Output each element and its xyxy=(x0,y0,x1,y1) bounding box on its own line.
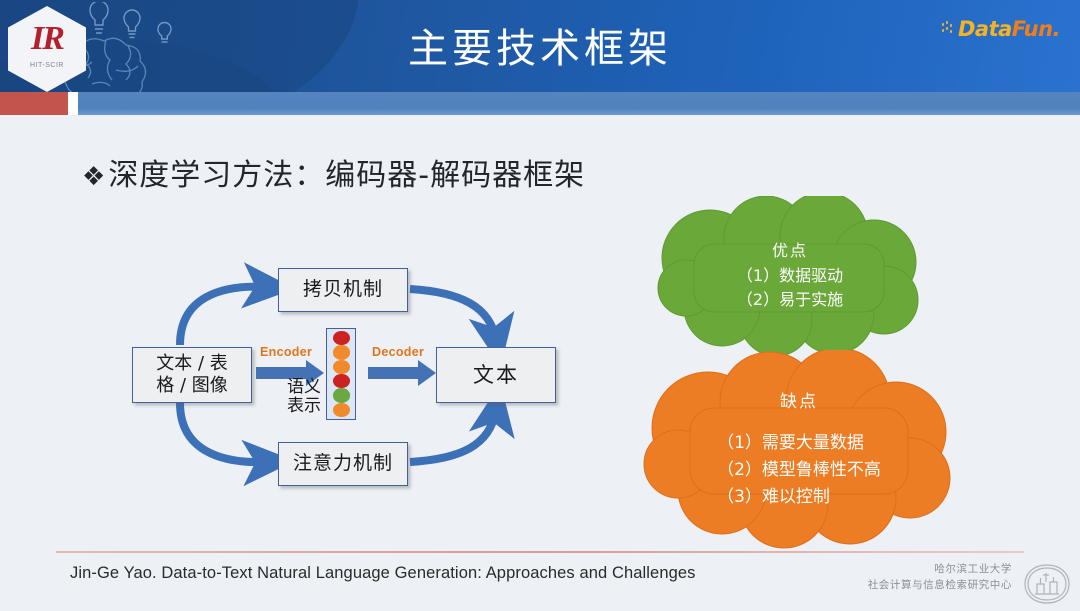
bullet-diamond-icon: ❖ xyxy=(82,162,106,192)
accent-band-gap xyxy=(68,92,78,115)
vector-dot-3 xyxy=(333,360,350,374)
copy-mechanism-box: 拷贝机制 xyxy=(278,268,408,312)
vector-dot-1 xyxy=(333,331,350,345)
advantages-cloud: 优点 （1）数据驱动 （2）易于实施 xyxy=(648,196,932,356)
university-name: 哈尔滨工业大学 xyxy=(868,562,1012,578)
semantic-label-line1: 语义 xyxy=(276,378,332,397)
decoder-label: Decoder xyxy=(372,345,424,359)
datafun-logo: DataFun. xyxy=(958,17,1060,41)
datafun-logo-part1: Data xyxy=(958,17,1012,41)
section-bullet: ❖深度学习方法：编码器-解码器框架 xyxy=(82,150,585,194)
vector-dot-4 xyxy=(333,374,350,388)
datafun-dots-icon xyxy=(942,21,956,35)
university-emblem-icon xyxy=(1022,562,1072,606)
footer-citation: Jin-Ge Yao. Data-to-Text Natural Languag… xyxy=(70,564,696,583)
accent-band-red xyxy=(0,92,68,115)
vector-dot-5 xyxy=(333,388,350,402)
page-title: 主要技术框架 xyxy=(0,16,1080,74)
vector-dot-2 xyxy=(333,345,350,359)
encoder-decoder-diagram: 拷贝机制 注意力机制 文本 / 表 格 / 图像 文本 Encoder Deco… xyxy=(110,250,590,510)
datafun-logo-part2: Fun. xyxy=(1012,17,1060,41)
cloud-shape-orange xyxy=(634,350,964,550)
cloud-shape-green xyxy=(648,196,932,356)
output-text-box: 文本 xyxy=(436,347,556,403)
input-box-line2: 格 / 图像 xyxy=(156,375,228,398)
attention-mechanism-box: 注意力机制 xyxy=(278,442,408,486)
university-credit: 哈尔滨工业大学 社会计算与信息检索研究中心 xyxy=(868,562,1012,594)
semantic-representation-label: 语义 表示 xyxy=(276,378,332,416)
encoder-label: Encoder xyxy=(260,345,312,359)
semantic-label-line2: 表示 xyxy=(276,397,332,416)
input-box-line1: 文本 / 表 xyxy=(156,353,228,376)
accent-band-blue xyxy=(78,92,1080,115)
footer-divider xyxy=(56,551,1024,553)
disadvantages-cloud: 缺点 （1）需要大量数据 （2）模型鲁棒性不高 （3）难以控制 xyxy=(634,350,964,550)
input-modalities-box: 文本 / 表 格 / 图像 xyxy=(132,347,252,403)
vector-dot-6 xyxy=(333,403,350,417)
slide-header: IR HIT-SCIR 主要技术框架 DataFun. xyxy=(0,0,1080,92)
section-bullet-text: 深度学习方法：编码器-解码器框架 xyxy=(108,158,585,193)
university-lab: 社会计算与信息检索研究中心 xyxy=(868,578,1012,594)
